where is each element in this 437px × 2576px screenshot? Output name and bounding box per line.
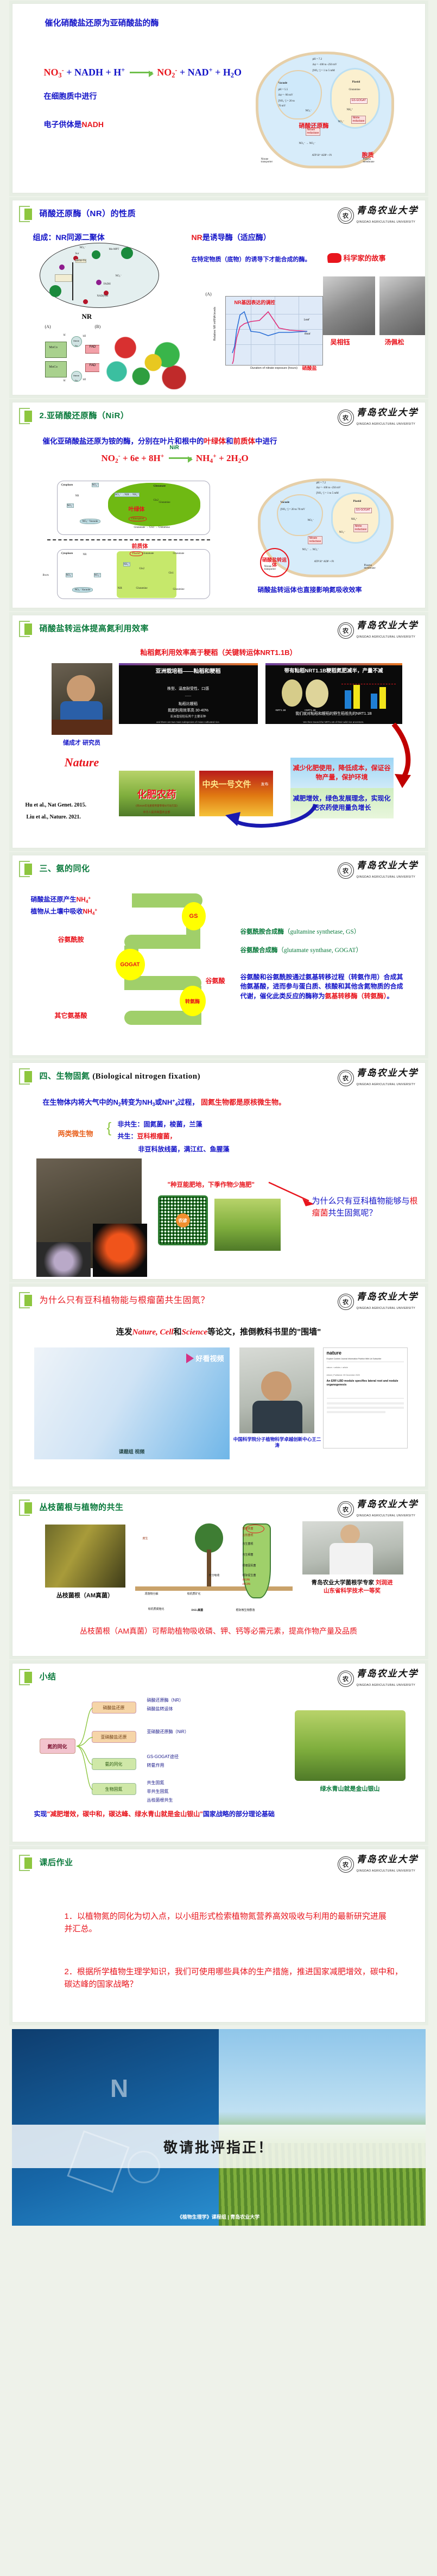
slide-3-right-caption: 硝酸盐转运体也直接影响氮吸收效率 [258, 585, 362, 594]
summary-mindmap: 氮的同化 硝酸盐还原 亚硝酸盐还原 氨的同化 生物固氮 硝酸还原酶（NR） 硝酸… [40, 1697, 273, 1800]
video-1-title: 亚洲栽培稻——籼稻和粳稻 [119, 666, 258, 675]
logo-name-cn: 青岛农业大学 [357, 1668, 419, 1679]
slide-6-title-en: (Biological nitrogen fixation) [92, 1072, 200, 1081]
microbe-group-item-2: 共生：豆科根瘤菌， [118, 1131, 176, 1141]
slide-4-title: 硝酸盐转运体提高氮利用效率 [40, 622, 149, 634]
university-logo: 青岛农业大学 QINGDAO AGRICULTURAL UNIVERSITY [338, 407, 419, 427]
slide-1-nitrate-reductase-enzyme: 催化硝酸盐还原为亚硝酸盐的酶 NO3- + NADH + H+ NO2- + N… [12, 3, 426, 193]
video-frame-2[interactable]: 带有籼稻NRT1.1B粳稻氮肥减半，产量不减 -NRT1.1B +NRT1.1B… [265, 663, 402, 724]
expert-photo [302, 1521, 403, 1574]
homework-item-1: 1．以植物氮的同化为切入点，以小组形式检索植物氮营养高效吸收与利用的最新研究进展… [65, 1910, 392, 1936]
slide-1-line-1-text: 在细胞质中进行 [44, 92, 97, 100]
logo-name-cn: 青岛农业大学 [357, 205, 419, 216]
expert-caption: 青岛农业大学菌根学专家 刘润进 山东省科学技术一等奖 [295, 1579, 410, 1595]
logo-name-cn: 青岛农业大学 [357, 1292, 419, 1302]
poster-2-caption: 中央一号文件 [202, 778, 251, 790]
reference-1: Hu et al., Nat Genet. 2015. [26, 802, 87, 808]
node-gs: GS [182, 902, 206, 930]
reaction-arrow-icon [130, 72, 153, 73]
slide-4-nitrate-transporter-efficiency: 硝酸盐转运体提高氮利用效率 青岛农业大学 QINGDAO AGRICULTURA… [12, 615, 426, 848]
slide-3-subtitle-a: 催化亚硝酸盐还原为铵的酶，分别在叶片和根中的 [43, 437, 204, 445]
university-seal-icon [338, 207, 354, 224]
slide-3-subtitle-e: 中进行 [255, 437, 277, 445]
qr-code-image[interactable]: 农谚 [158, 1195, 208, 1245]
university-logo: 青岛农业大学 QINGDAO AGRICULTURAL UNIVERSITY [338, 205, 419, 225]
nitrate-transporter-diagram: pH = 7.2 Δψ = -100 to -250 mV [NO₃⁻] = 1… [258, 478, 394, 577]
slide-1-title: 催化硝酸盐还原为亚硝酸盐的酶 [45, 17, 159, 28]
enzyme-gs: 谷氨酰胺合成酶（gultamine synthetase, GS） [240, 927, 360, 936]
university-logo: 青岛农业大学 QINGDAO AGRICULTURAL UNIVERSITY [338, 860, 419, 880]
video-1-line-1: 株型、温度耐受性、口感 [119, 686, 258, 691]
blue-curved-arrow-icon [219, 800, 322, 833]
reaction-arrow-icon [169, 457, 192, 459]
scientist-photo-1 [323, 276, 375, 335]
homework-item-2: 2．根据所学植物生理学知识，我们可使用哪些具体的生产措施，推进国家减肥增效，碳中… [65, 1966, 403, 1991]
title-marker-icon [19, 620, 35, 636]
slide-6-title-cn: 四、生物固氮 [40, 1072, 90, 1081]
slide-1-equation: NO3- + NADH + H+ NO2- + NAD+ + H2O [44, 66, 242, 80]
slide-6-biological-nitrogen-fixation: 四、生物固氮 (Biological nitrogen fixation) 青岛… [12, 1062, 426, 1280]
mindmap-leaf-6: 共生固氮 [147, 1780, 164, 1786]
nr-chart-note: 硝酸盐 [302, 364, 317, 371]
poster-2-badge: 发布 [261, 782, 269, 787]
poster-1-sub: 《到2020年化肥使用量零增长行动方案》 [119, 804, 195, 808]
video-caption: 课题组 视频 [34, 1448, 230, 1455]
mindmap-leaf-1: 硝酸还原酶（NR） [147, 1697, 184, 1703]
video-1-line-2: ...... [119, 694, 258, 697]
video-2-line-2: We then traced the NRT1.1B of their wild… [265, 721, 402, 723]
reference-2: Liu et al., Nature. 2021. [27, 814, 81, 820]
slide-11-closing: N 敬请批评指正！ 《植物生理学》课程组 | 青岛农业大学 [12, 2029, 426, 2226]
nr-chart-series-leaf [226, 297, 324, 366]
flow-label-glutamate: 谷氨酸 [206, 976, 225, 985]
nodule-closeup-photo-1 [36, 1242, 91, 1277]
mindmap-leaf-3: 亚硝酸还原酶（NiR） [147, 1729, 189, 1735]
logo-name-cn: 青岛农业大学 [357, 620, 419, 631]
mindmap-leaf-7: 非共生固氮 [147, 1788, 169, 1794]
video-badge: 好看视频 [195, 1353, 224, 1363]
nh4-source-1: 硝酸盐还原产生NH4+ [31, 895, 91, 904]
plant-cell-diagram: pH = 7.2 Δψ = -100 to -250 mV [NO₃⁻] = 1… [256, 52, 394, 168]
slide-5-title: 三、氨的同化 [40, 862, 90, 874]
logo-name-en: QINGDAO AGRICULTURAL UNIVERSITY [357, 1684, 416, 1687]
video-frame-1[interactable]: 亚洲栽培稻——籼稻和粳稻 株型、温度耐受性、口感 ...... 籼稻比粳稻 氮肥… [119, 663, 258, 724]
slide-6-question: 为什么只有豆科植物能够与根瘤菌共生固氮呢？ [312, 1195, 421, 1219]
title-marker-icon [19, 407, 35, 423]
slide-6-lead-highlight: 固氮生物都是原核微生物。 [201, 1098, 286, 1106]
nh4-source-2: 植物从土壤中吸收NH4+ [31, 906, 98, 916]
slide-6-lead: 在生物体内将大气中的N2转变为NH3或NH+4过程， 固氮生物都是原核微生物。 [43, 1097, 286, 1107]
nr-structure-diagram: NO₃⁻ Mo-MPT NO₂⁻ Heme-Fe FADH NAD(P)H Su… [40, 243, 159, 308]
logo-name-cn: 青岛农业大学 [357, 860, 419, 871]
scientist-name-2: 汤佩松 [385, 337, 404, 347]
nature-nav: Explore Content Journal Information Publ… [327, 1358, 404, 1362]
slide-1-line-2-nadh: NADH [82, 120, 104, 129]
scientist-caption: 中国科学院分子植物科学卓越创新中心王二涛 [232, 1437, 323, 1448]
flow-label-other-aa: 其它氨基酸 [55, 1011, 87, 1020]
nitrogen-symbol: N [110, 2074, 128, 2103]
slide-7-headline: 连发Nature, Cell和Science等论文，推倒教科书里的"围墙" [12, 1326, 425, 1337]
poster-1-sub2: 中华人民共和国农业部 [119, 810, 195, 814]
slide-3-subtitle-c: 和 [226, 437, 233, 445]
slide-4-headline: 籼稻氮利用效率高于粳稻（关键转运体NRT1.1B） [12, 647, 425, 657]
slide-3-subtitle-b: 叶绿体 [204, 437, 226, 445]
slide-3-title-number: 2. [40, 411, 47, 420]
nature-breadcrumb: nature > articles > article [327, 1366, 348, 1369]
logo-name-en: QINGDAO AGRICULTURAL UNIVERSITY [357, 1307, 416, 1310]
slide-3-subtitle: 催化亚硝酸盐还原为铵的酶，分别在叶片和根中的叶绿体和前质体中进行 [43, 435, 277, 446]
nature-meta: Article | Published: 09 December 2020 [327, 1374, 360, 1376]
gs-gogat-flow-diagram: GS GOGAT 转氨酶 谷氨酰胺 谷氨酸 其它氨基酸 [110, 893, 230, 1035]
video-player[interactable]: 好看视频 课题组 视频 [34, 1347, 230, 1459]
mindmap-root: 氮的同化 [40, 1739, 75, 1754]
university-seal-icon [338, 1294, 354, 1310]
scientist-photo-2 [379, 276, 425, 335]
title-marker-icon [19, 205, 35, 221]
slide-1-line-2-cn: 电子供体是 [44, 120, 82, 129]
mindmap-leaf-8: 丛枝菌根共生 [147, 1797, 173, 1803]
university-logo: 青岛农业大学 QINGDAO AGRICULTURAL UNIVERSITY [338, 1854, 419, 1874]
university-logo: 青岛农业大学 QINGDAO AGRICULTURAL UNIVERSITY [338, 620, 419, 640]
video-2-title: 带有籼稻NRT1.1B粳稻氮肥减半，产量不减 [265, 666, 402, 674]
slide-8-title: 丛枝菌根与植物的共生 [40, 1501, 124, 1513]
green-mountain-photo [295, 1710, 406, 1781]
nature-headline: An ERF-LBD module specifies lateral root… [327, 1380, 404, 1387]
logo-name-en: QINGDAO AGRICULTURAL UNIVERSITY [357, 635, 416, 639]
title-marker-icon [19, 1668, 35, 1684]
mindmap-connectors [73, 1697, 149, 1800]
nir-localization-diagram: Cytoplasm NO₂⁻ NO₃⁻ NR NO₂⁻ →NiR→ NH₄⁺ G… [47, 481, 210, 599]
slide-6-title: 四、生物固氮 (Biological nitrogen fixation) [40, 1070, 201, 1081]
journal-name: Nature [52, 755, 112, 770]
slide-2-left-heading: 组成：NR同源二聚体 [33, 232, 105, 243]
university-seal-icon [338, 410, 354, 426]
speaker-name: 储成才 研究员 [52, 738, 112, 747]
university-seal-icon [338, 862, 354, 879]
scientist-story-badge: 科学家的故事 [327, 253, 386, 263]
nr-chart-ylabel: Relative NR mRNA levels [213, 307, 217, 341]
slide-8-bottom-text: 丛枝菌根（AM真菌）可帮助植物吸收磷、钾、钙等必需元素，提高作物产量及品质 [12, 1626, 425, 1636]
brace-icon: { [107, 1119, 112, 1136]
logo-name-en: QINGDAO AGRICULTURAL UNIVERSITY [357, 1514, 416, 1517]
chart-panel-label: (A) [206, 292, 212, 297]
slide-9-summary: 小结 青岛农业大学 QINGDAO AGRICULTURAL UNIVERSIT… [12, 1663, 426, 1842]
university-logo: 青岛农业大学 QINGDAO AGRICULTURAL UNIVERSITY [338, 1291, 419, 1312]
node-gogat: GOGAT [116, 949, 145, 980]
fertilizer-poster-image: 化肥农药 《到2020年化肥使用量零增长行动方案》 中华人民共和国农业部 [119, 771, 195, 816]
rhizosphere-diagram: 腐生 菌根真菌 丛枝菌根 内生菌根 内生细菌 根瘤固氮菌 根际促生菌 iPGPR… [135, 1521, 293, 1628]
scientist-story-label: 科学家的故事 [344, 253, 386, 263]
slide-3-enzyme-label: NiR [170, 445, 179, 451]
title-marker-icon [19, 1291, 35, 1307]
slide-9-bottom-text: 实现"减肥增效，碳中和，碳达峰、绿水青山就是金山银山"国家战略的部分理论基础 [34, 1809, 403, 1819]
slide-3-equation: NO2- + 6e + 8H+ NH4+ + 2H2O [102, 452, 249, 464]
slide-10-homework: 课后作业 青岛农业大学 QINGDAO AGRICULTURAL UNIVERS… [12, 1849, 426, 2023]
title-marker-icon [19, 860, 35, 876]
slide-10-title: 课后作业 [40, 1856, 73, 1868]
slide-7-title: 为什么只有豆科植物能与根瘤菌共生固氮？ [40, 1293, 210, 1306]
flow-label-glutamine: 谷氨酰胺 [58, 935, 84, 944]
slide-3-nitrite-reductase: 2.亚硝酸还原酶（NiR） 青岛农业大学 QINGDAO AGRICULTURA… [12, 402, 426, 608]
scientist-photo [239, 1347, 314, 1433]
video-1-line-6: and there are two main subspecies of Asi… [119, 721, 258, 723]
title-marker-icon [19, 1854, 35, 1870]
logo-name-cn: 青岛农业大学 [357, 1068, 419, 1078]
microbe-group-item-1: 非共生：固氮菌，梭菌，兰藻 [118, 1119, 202, 1129]
slide-8-mycorrhiza-symbiosis: 丛枝菌根与植物的共生 青岛农业大学 QINGDAO AGRICULTURAL U… [12, 1494, 426, 1657]
slide-2-nr-properties: 硝酸还原酶（NR）的性质 青岛农业大学 QINGDAO AGRICULTURAL… [12, 200, 426, 395]
slide-9-title: 小结 [40, 1671, 56, 1682]
closing-footer: 《植物生理学》课程组 | 青岛农业大学 [12, 2213, 426, 2220]
title-marker-icon [19, 1067, 35, 1084]
mindmap-leaf-4: GS-GOGAT途径 [147, 1754, 179, 1760]
nr-ribbon-structure-image [99, 330, 186, 389]
logo-name-cn: 青岛农业大学 [357, 1854, 419, 1865]
logo-name-en: QINGDAO AGRICULTURAL UNIVERSITY [357, 1083, 416, 1086]
microbe-group-label: 两类微生物 [58, 1128, 93, 1138]
nitrate-transporter-highlight: 硝酸盐转运体 [260, 548, 289, 577]
university-seal-icon [338, 1070, 354, 1086]
title-marker-icon [19, 1498, 35, 1515]
video-1-line-3: 籼稻比粳稻 [119, 701, 258, 707]
nr-caption: NR [82, 312, 92, 321]
logo-name-en: QINGDAO AGRICULTURAL UNIVERSITY [357, 876, 416, 879]
university-seal-icon [338, 622, 354, 639]
speaker-photo [52, 663, 112, 735]
proverb-text: "种豆能肥地，下季作物少施肥" [168, 1180, 255, 1189]
slide-7-legume-rhizobium-question: 为什么只有豆科植物能与根瘤菌共生固氮？ 青岛农业大学 QINGDAO AGRIC… [12, 1286, 426, 1487]
am-fungi-caption: 丛枝菌根（AM真菌） [43, 1591, 128, 1599]
slide-2-right-heading: NR是诱导酶（适应酶） [192, 232, 271, 243]
slide-5-ammonia-assimilation: 三、氨的同化 青岛农业大学 QINGDAO AGRICULTURAL UNIVE… [12, 855, 426, 1056]
slide-3-title: 2.亚硝酸还原酶（NiR） [40, 410, 129, 421]
side-note: 绿水青山就是金山银山 [295, 1784, 406, 1793]
nr-domain-schematic: HemeFe HemeFe FAD FAD MoCo MoCo hI hII h… [43, 333, 103, 383]
logo-name-en: QINGDAO AGRICULTURAL UNIVERSITY [357, 221, 416, 224]
logo-name-cn: 青岛农业大学 [357, 407, 419, 418]
video-1-line-5: 亚洲栽培稻有两个主要亚种 [119, 714, 258, 719]
nature-site-name: nature [327, 1350, 342, 1356]
enzyme-gogat: 谷氨酸合成酶（glutamate synthase, GOGAT） [240, 946, 363, 954]
university-logo: 青岛农业大学 QINGDAO AGRICULTURAL UNIVERSITY [338, 1668, 419, 1689]
play-icon[interactable] [186, 1353, 194, 1363]
callout-1-text: 减少化肥使用，降低成本，保证谷物产量，保护环境 [290, 764, 394, 782]
slide-deck: 催化硝酸盐还原为亚硝酸盐的酶 NO3- + NADH + H+ NO2- + N… [0, 0, 437, 2226]
slide-2-right-text: 在特定物质（底物）的诱导下才能合成的酶。 [192, 255, 311, 263]
callout-1: 减少化肥使用，降低成本，保证谷物产量，保护环境 [290, 758, 394, 788]
nature-article-screenshot: nature Explore Content Journal Informati… [323, 1347, 408, 1448]
microbe-group-item-3: 非豆科放线菌，满江红、鱼腥藻 [138, 1144, 230, 1154]
nodule-closeup-photo-2 [93, 1224, 147, 1277]
nr-expression-chart: NR基因表达的调控 Leaf Root [225, 296, 323, 366]
video-1-line-4: 氮肥利用效率高 30-40% [119, 708, 258, 713]
slide-3-subtitle-d: 前质体 [233, 437, 256, 445]
logo-name-cn: 青岛农业大学 [357, 1499, 419, 1509]
mindmap-leaf-2: 硝酸盐转运体 [147, 1706, 173, 1712]
university-logo: 青岛农业大学 QINGDAO AGRICULTURAL UNIVERSITY [338, 1498, 419, 1519]
scientist-name-1: 吴相钰 [331, 337, 350, 347]
slide-2-title: 硝酸还原酶（NR）的性质 [40, 207, 136, 219]
transamination-paragraph: 谷氨酸和谷氨酰胺通过氨基转移过程（转氨作用）合成其他氨基酸，进而参与蛋白质、核酸… [240, 973, 403, 1001]
slide-2-title-group: 硝酸还原酶（NR）的性质 [19, 205, 136, 221]
slide-3-title-text: 亚硝酸还原酶（NiR） [47, 411, 129, 420]
logo-name-en: QINGDAO AGRICULTURAL UNIVERSITY [357, 423, 416, 426]
slide-1-line-2: 电子供体是NADH [44, 119, 104, 130]
mindmap-leaf-5: 转氨作用 [147, 1762, 164, 1768]
closing-text: 敬请批评指正！ [163, 2137, 274, 2157]
university-seal-icon [338, 1501, 354, 1517]
university-seal-icon [338, 1856, 354, 1873]
logo-name-en: QINGDAO AGRICULTURAL UNIVERSITY [357, 1869, 416, 1873]
university-logo: 青岛农业大学 QINGDAO AGRICULTURAL UNIVERSITY [338, 1067, 419, 1088]
video-2-line-1: 我们就对籼稻和粳稻的野生稻祖先的NRT1.1B [265, 711, 402, 716]
poster-1-caption: 化肥农药 [119, 787, 195, 801]
am-fungi-micrograph [45, 1525, 125, 1588]
qr-center-label: 农谚 [176, 1213, 190, 1227]
slide-1-line-1: 在细胞质中进行 [44, 91, 97, 102]
speech-bubble-icon [327, 253, 341, 263]
closing-banner: 敬请批评指正！ [12, 2125, 426, 2168]
node-transaminase: 转氨酶 [180, 986, 206, 1016]
university-seal-icon [338, 1671, 354, 1687]
